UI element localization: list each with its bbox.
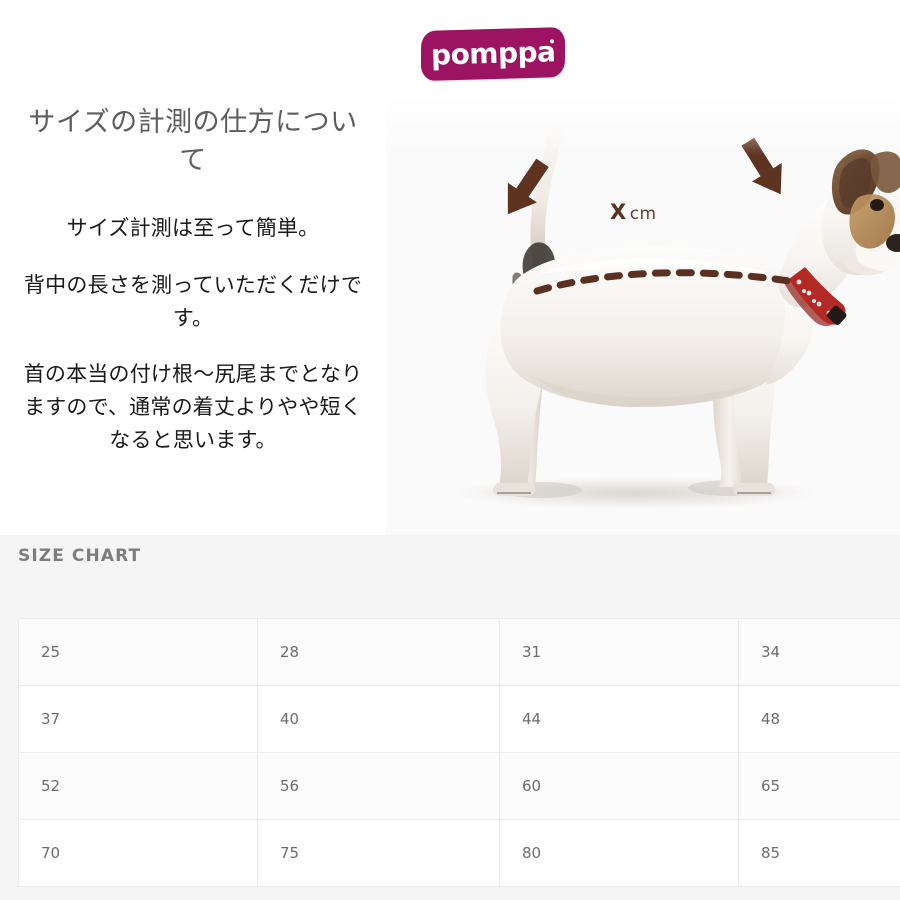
size-chart-table: 25 28 31 34 37 40 44 48 52 56 60 65 70 7… [18,618,900,887]
logo-badge: pomppa [421,27,565,81]
measurement-label: Xcm [610,200,657,224]
page-title: サイズの計測の仕方について [20,104,366,181]
info-paragraphs: サイズ計測は至って簡単。 背中の長さを測っていただくだけです。 首の本当の付け根… [20,212,366,457]
top-section: Xcm サイズの計測の仕方について サイズ計測は至って簡単。 背中の長さを測って… [0,0,900,535]
table-row: 52 56 60 65 [19,753,900,820]
table-cell: 37 [19,686,258,753]
info-paragraph-3: 首の本当の付け根〜尻尾までとなりますので、通常の着丈よりやや短くなると思います。 [20,358,366,456]
table-cell: 80 [500,820,739,887]
brand-logo: pomppa [421,29,565,79]
measurement-value: X [610,200,627,224]
table-cell: 40 [258,686,500,753]
table-row: 70 75 80 85 [19,820,900,887]
table-cell: 31 [500,619,739,686]
table-cell: 34 [739,619,900,686]
table-cell: 25 [19,619,258,686]
table-cell: 65 [739,753,900,820]
table-cell: 56 [258,753,500,820]
table-cell: 28 [258,619,500,686]
table-cell: 52 [19,753,258,820]
info-paragraph-1: サイズ計測は至って簡単。 [20,212,366,245]
measure-arrow-right [733,132,796,203]
dog-photo-panel [385,95,900,535]
table-cell: 85 [739,820,900,887]
table-row: 25 28 31 34 [19,619,900,686]
size-chart-title: SIZE CHART [18,546,141,566]
info-text-panel: サイズの計測の仕方について サイズ計測は至って簡単。 背中の長さを測っていただく… [0,0,386,535]
logo-wordmark: pomppa [430,35,555,71]
dog-illustration [385,95,900,535]
table-cell: 60 [500,753,739,820]
size-guide-page: Xcm サイズの計測の仕方について サイズ計測は至って簡単。 背中の長さを測って… [0,0,900,900]
measurement-unit: cm [630,204,657,224]
info-paragraph-2: 背中の長さを測っていただくだけです。 [20,269,366,335]
table-cell: 48 [739,686,900,753]
table-cell: 75 [258,820,500,887]
table-cell: 44 [500,686,739,753]
dog-graphic [385,95,900,535]
table-cell: 70 [19,820,258,887]
dog-eye [870,199,884,211]
table-row: 37 40 44 48 [19,686,900,753]
